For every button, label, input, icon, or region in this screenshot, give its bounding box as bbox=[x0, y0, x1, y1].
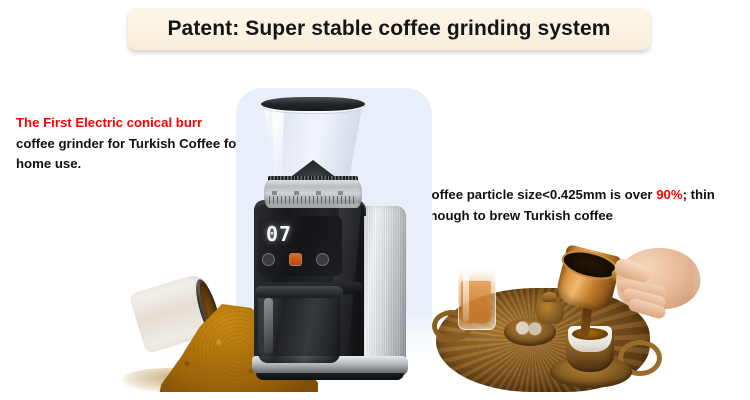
grind-button-icon bbox=[289, 253, 302, 266]
grinder-base-foot bbox=[256, 373, 404, 380]
page-bottom-edge bbox=[0, 392, 750, 400]
page-title: Patent: Super stable coffee grinding sys… bbox=[167, 17, 610, 41]
water-glass-shine bbox=[463, 274, 469, 322]
coffee-in-cup bbox=[572, 328, 608, 340]
left-rest-text: coffee grinder for Turkish Coffee for ho… bbox=[16, 136, 241, 172]
right-highlight-percent: 90% bbox=[656, 187, 682, 202]
left-description-text: The First Electric conical burr coffee g… bbox=[16, 113, 242, 175]
grind-ring-marks bbox=[272, 191, 354, 195]
right-description-text: Coffee particle size<0.425mm is over 90%… bbox=[422, 184, 738, 226]
grounds-bin-lid bbox=[255, 286, 343, 298]
header-banner: Patent: Super stable coffee grinding sys… bbox=[128, 8, 650, 50]
sugar-lumps bbox=[514, 320, 544, 336]
timer-button-icon bbox=[316, 253, 329, 266]
power-button-icon bbox=[262, 253, 275, 266]
grounds-bin-gloss bbox=[264, 298, 273, 354]
display-value: 07 bbox=[266, 222, 292, 246]
control-button-row bbox=[262, 253, 338, 267]
turkish-photo-fade bbox=[690, 248, 750, 400]
left-highlight-text: The First Electric conical burr bbox=[16, 115, 202, 130]
hopper-lid bbox=[261, 97, 365, 111]
small-copper-pot-lid bbox=[542, 292, 557, 302]
right-before-text: Coffee particle size<0.425mm is over bbox=[422, 187, 656, 202]
grind-ring-ticks bbox=[269, 196, 357, 204]
grounds-photo-fade bbox=[110, 276, 130, 400]
coffee-grinder-product-image: 07 bbox=[236, 92, 426, 382]
